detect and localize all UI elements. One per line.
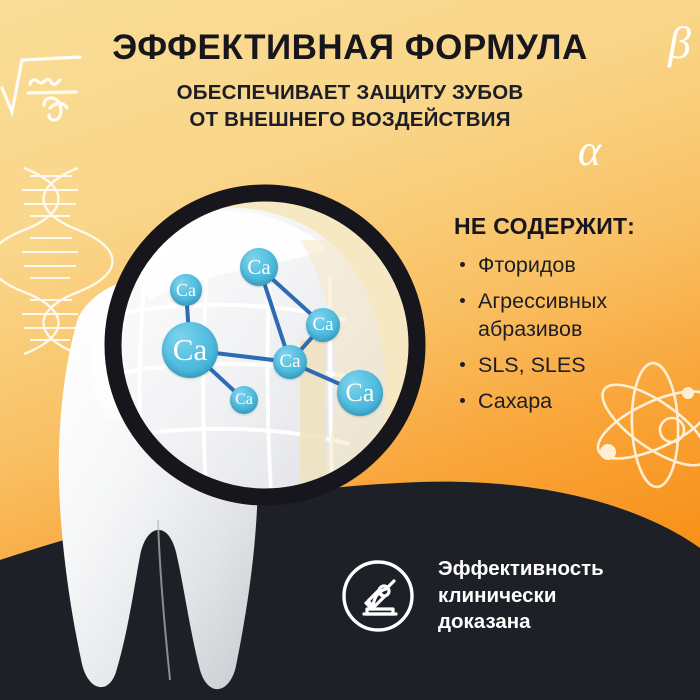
bullet-icon — [460, 398, 465, 403]
subtitle-line-2: ОТ ВНЕШНЕГО ВОЗДЕЙСТВИЯ — [0, 106, 700, 133]
calcium-atom: Ca — [306, 308, 340, 342]
calcium-atom-label: Ca — [312, 314, 333, 336]
poster-canvas: β α — [0, 0, 700, 700]
free-from-item-label: Агрессивных абразивов — [478, 289, 607, 341]
free-from-item-label: Фторидов — [478, 253, 576, 277]
subtitle-line-1: ОБЕСПЕЧИВАЕТ ЗАЩИТУ ЗУБОВ — [0, 79, 700, 106]
free-from-list: ФторидовАгрессивных абразивовSLS, SLESСа… — [452, 252, 687, 416]
microscope-icon — [340, 558, 416, 634]
free-from-block: НЕ СОДЕРЖИТ: ФторидовАгрессивных абразив… — [452, 213, 687, 424]
calcium-atom-label: Ca — [247, 255, 270, 280]
bullet-icon — [460, 362, 465, 367]
proof-line-1: Эффективность — [438, 556, 604, 583]
calcium-atom: Ca — [273, 345, 307, 379]
clinical-proof-text: Эффективность клинически доказана — [438, 556, 604, 636]
header-block: ЭФФЕКТИВНАЯ ФОРМУЛА ОБЕСПЕЧИВАЕТ ЗАЩИТУ … — [0, 30, 700, 133]
free-from-item: Фторидов — [452, 252, 687, 280]
calcium-atom-label: Ca — [176, 280, 196, 301]
calcium-atom: Ca — [170, 274, 202, 306]
proof-line-2: клинически — [438, 583, 604, 610]
calcium-atom-label: Ca — [279, 351, 300, 373]
free-from-item-label: Сахара — [478, 389, 552, 413]
calcium-atom: Ca — [240, 248, 278, 286]
calcium-atom: Ca — [162, 322, 218, 378]
calcium-atom-label: Ca — [235, 391, 253, 409]
calcium-atom: Ca — [337, 370, 383, 416]
page-title: ЭФФЕКТИВНАЯ ФОРМУЛА — [0, 30, 700, 67]
bullet-icon — [460, 262, 465, 267]
calcium-atom-label: Ca — [173, 332, 207, 368]
calcium-atom-label: Ca — [346, 378, 375, 408]
free-from-item-label: SLS, SLES — [478, 353, 586, 377]
proof-line-3: доказана — [438, 609, 604, 636]
calcium-atom: Ca — [230, 386, 258, 414]
free-from-title: НЕ СОДЕРЖИТ: — [454, 213, 687, 240]
free-from-item: Сахара — [452, 388, 687, 416]
clinical-proof-badge: Эффективность клинически доказана — [340, 556, 604, 636]
free-from-item: SLS, SLES — [452, 352, 687, 380]
bullet-icon — [460, 298, 465, 303]
free-from-item: Агрессивных абразивов — [452, 288, 687, 344]
